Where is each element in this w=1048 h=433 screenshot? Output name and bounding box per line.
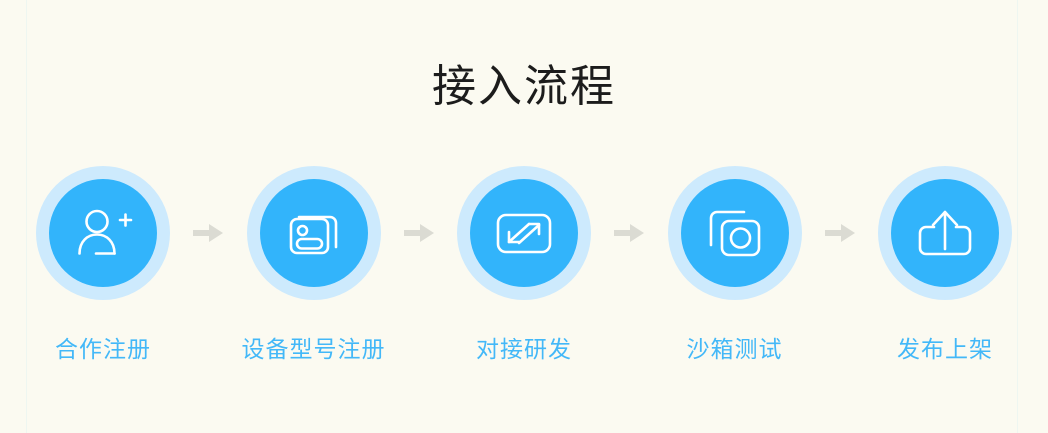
arrow-right-icon [403,222,435,244]
arrow-right-icon [824,222,856,244]
step-5-label: 发布上架 [897,334,993,364]
stacked-id-cards-icon [283,202,345,264]
connector-3 [606,166,652,300]
connector-1 [185,166,231,300]
step-2-circle-inner [260,179,368,287]
step-4-circle[interactable] [668,166,802,300]
page-title: 接入流程 [0,58,1048,116]
step-2-label: 设备型号注册 [242,334,386,364]
step-4-circle-inner [681,179,789,287]
flow-step-1[interactable]: 合作注册 [30,166,176,364]
step-3-circle[interactable] [457,166,591,300]
upload-box-icon [914,202,976,264]
step-4-label: 沙箱测试 [687,334,783,364]
step-1-circle-inner [49,179,157,287]
step-5-circle-inner [891,179,999,287]
user-plus-icon [71,201,135,265]
step-1-circle[interactable] [36,166,170,300]
connector-4 [817,166,863,300]
step-5-circle[interactable] [878,166,1012,300]
flow-step-5[interactable]: 发布上架 [872,166,1018,364]
process-flow: 合作注册 设备型号注册 [30,166,1018,381]
step-2-circle[interactable] [247,166,381,300]
step-1-label: 合作注册 [55,334,151,364]
step-3-label: 对接研发 [476,334,572,364]
flow-step-3[interactable]: 对接研发 [451,166,597,364]
arrow-right-icon [192,222,224,244]
bidirectional-arrows-box-icon [493,202,555,264]
flow-step-2[interactable]: 设备型号注册 [241,166,387,364]
step-3-circle-inner [470,179,578,287]
arrow-right-icon [613,222,645,244]
stacked-camera-icon [705,203,765,263]
connector-2 [396,166,442,300]
flow-step-4[interactable]: 沙箱测试 [662,166,808,364]
